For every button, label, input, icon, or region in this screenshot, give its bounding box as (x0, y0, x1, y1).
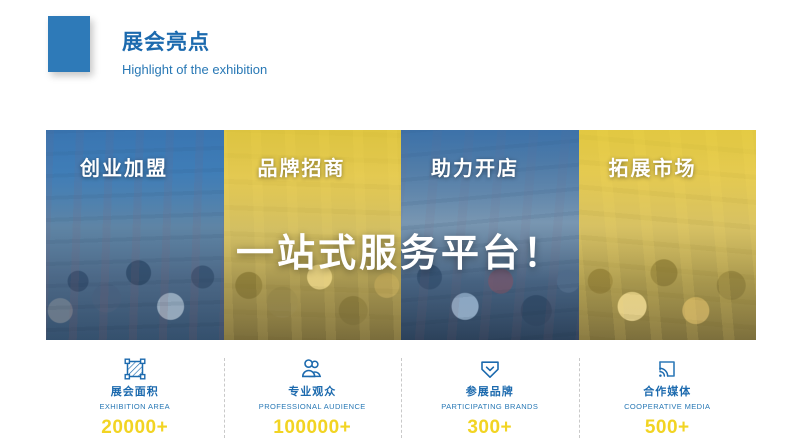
stat-label-en: PARTICIPATING BRANDS (441, 401, 538, 412)
panel-label-2: 品牌招商 (258, 152, 346, 181)
stat-label-cn: 合作媒体 (643, 385, 691, 399)
stat-professional-audience: 专业观众 PROFESSIONAL AUDIENCE 100000+ (224, 354, 402, 440)
header-accent-bar (48, 16, 90, 72)
stats-row: 展会面积 EXHIBITION AREA 20000+ 专业观众 PROFESS… (46, 354, 756, 440)
stat-value: 500+ (645, 417, 690, 439)
stat-label-en: PROFESSIONAL AUDIENCE (259, 401, 366, 412)
audience-icon (300, 356, 324, 382)
stat-label-cn: 参展品牌 (466, 385, 514, 399)
media-icon (655, 356, 679, 382)
stat-exhibition-area: 展会面积 EXHIBITION AREA 20000+ (46, 354, 224, 440)
stat-label-cn: 展会面积 (111, 385, 159, 399)
stat-label-cn: 专业观众 (288, 385, 336, 399)
page-subtitle: Highlight of the exhibition (122, 60, 267, 80)
stat-label-en: COOPERATIVE MEDIA (624, 401, 710, 412)
stat-value: 300+ (467, 417, 512, 439)
header-text-group: 展会亮点 Highlight of the exhibition (122, 30, 267, 80)
page-title: 展会亮点 (122, 30, 267, 56)
brand-icon (478, 356, 502, 382)
stat-label-en: EXHIBITION AREA (99, 401, 170, 412)
panel-label-1: 创业加盟 (80, 152, 168, 181)
stat-cooperative-media: 合作媒体 COOPERATIVE MEDIA 500+ (579, 354, 757, 440)
band-headline: 一站式服务平台！ (0, 222, 800, 277)
page-header: 展会亮点 Highlight of the exhibition (0, 0, 800, 110)
stat-participating-brands: 参展品牌 PARTICIPATING BRANDS 300+ (401, 354, 579, 440)
area-icon (123, 356, 147, 382)
stat-value: 20000+ (101, 417, 168, 439)
stat-value: 100000+ (273, 417, 351, 439)
panel-label-3: 助力开店 (431, 152, 519, 181)
panel-label-4: 拓展市场 (609, 152, 697, 181)
